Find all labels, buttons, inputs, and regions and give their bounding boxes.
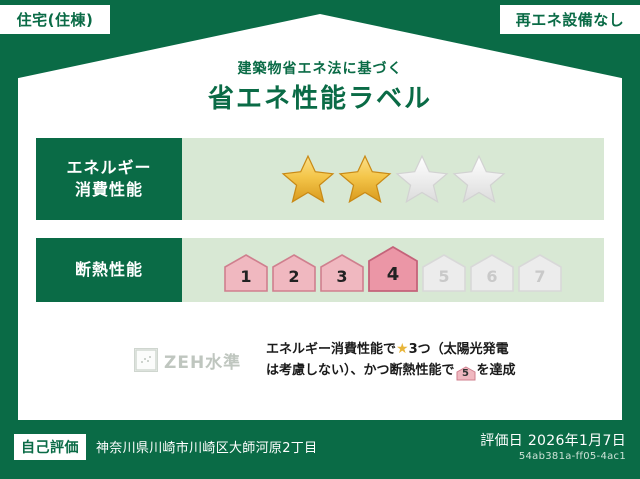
zeh-desc-part1: エネルギー消費性能で bbox=[266, 342, 396, 357]
energy-performance-row: エネルギー 消費性能 bbox=[36, 138, 604, 220]
star-icon bbox=[452, 153, 506, 205]
star-icon bbox=[395, 153, 449, 205]
insulation-level-number: 6 bbox=[486, 267, 497, 292]
label-title: 省エネ性能ラベル bbox=[0, 78, 640, 115]
energy-label-root: 住宅(住棟) 再エネ設備なし 建築物省エネ法に基づく 省エネ性能ラベル エネルギ… bbox=[0, 0, 640, 479]
energy-performance-value bbox=[182, 138, 604, 220]
insulation-performance-value: 1 2 3 4 bbox=[182, 238, 604, 302]
zeh-desc-part3: は考慮しない）、かつ断熱性能で bbox=[266, 363, 455, 378]
building-type-tag: 住宅(住棟) bbox=[0, 5, 110, 34]
star-icon: ★ bbox=[396, 341, 409, 357]
insulation-level-number: 3 bbox=[336, 267, 347, 292]
star-icon bbox=[281, 153, 335, 205]
insulation-level-number: 4 bbox=[387, 264, 400, 292]
insulation-level-house: 6 bbox=[470, 254, 514, 292]
zeh-standard-row: ZEH水準 エネルギー消費性能で★3つ（太陽光発電 は考慮しない）、かつ断熱性能… bbox=[36, 330, 604, 390]
energy-label-line2: 消費性能 bbox=[75, 180, 143, 199]
insulation-performance-row: 断熱性能 1 2 bbox=[36, 238, 604, 302]
mini-house-number: 5 bbox=[462, 366, 469, 382]
evaluation-date: 評価日 2026年1月7日 bbox=[480, 430, 626, 450]
label-footer: 自己評価 神奈川県川崎市川崎区大師河原2丁目 評価日 2026年1月7日 54a… bbox=[0, 420, 640, 479]
zeh-solar-icon bbox=[134, 348, 158, 372]
self-evaluation-badge: 自己評価 bbox=[14, 434, 86, 460]
insulation-level-house: 5 bbox=[422, 254, 466, 292]
zeh-desc-part2: 3つ（太陽光発電 bbox=[409, 342, 509, 357]
zeh-description: エネルギー消費性能で★3つ（太陽光発電 は考慮しない）、かつ断熱性能で 5 を達… bbox=[266, 339, 516, 381]
zeh-desc-part4: を達成 bbox=[477, 363, 516, 378]
mini-house-badge: 5 bbox=[456, 366, 476, 381]
property-address: 神奈川県川崎市川崎区大師河原2丁目 bbox=[96, 437, 317, 456]
zeh-label: ZEH水準 bbox=[164, 348, 241, 373]
renewable-equipment-tag: 再エネ設備なし bbox=[500, 5, 640, 34]
insulation-level-number: 7 bbox=[534, 267, 545, 292]
label-subtitle: 建築物省エネ法に基づく bbox=[0, 58, 640, 78]
insulation-level-house: 3 bbox=[320, 254, 364, 292]
star-icon bbox=[338, 153, 392, 205]
insulation-level-scale: 1 2 3 4 bbox=[224, 246, 562, 294]
insulation-level-number: 1 bbox=[240, 267, 251, 292]
insulation-performance-label: 断熱性能 bbox=[36, 238, 182, 302]
insulation-level-house: 1 bbox=[224, 254, 268, 292]
insulation-level-house-current: 4 bbox=[368, 246, 418, 292]
zeh-badge: ZEH水準 bbox=[134, 348, 256, 373]
energy-label-line1: エネルギー bbox=[66, 158, 151, 177]
insulation-level-house: 7 bbox=[518, 254, 562, 292]
insulation-level-house: 2 bbox=[272, 254, 316, 292]
insulation-level-number: 5 bbox=[438, 267, 449, 292]
energy-performance-label: エネルギー 消費性能 bbox=[36, 138, 182, 220]
evaluation-id: 54ab381a-ff05-4ac1 bbox=[519, 451, 626, 462]
star-rating bbox=[281, 153, 506, 205]
insulation-level-number: 2 bbox=[288, 267, 299, 292]
